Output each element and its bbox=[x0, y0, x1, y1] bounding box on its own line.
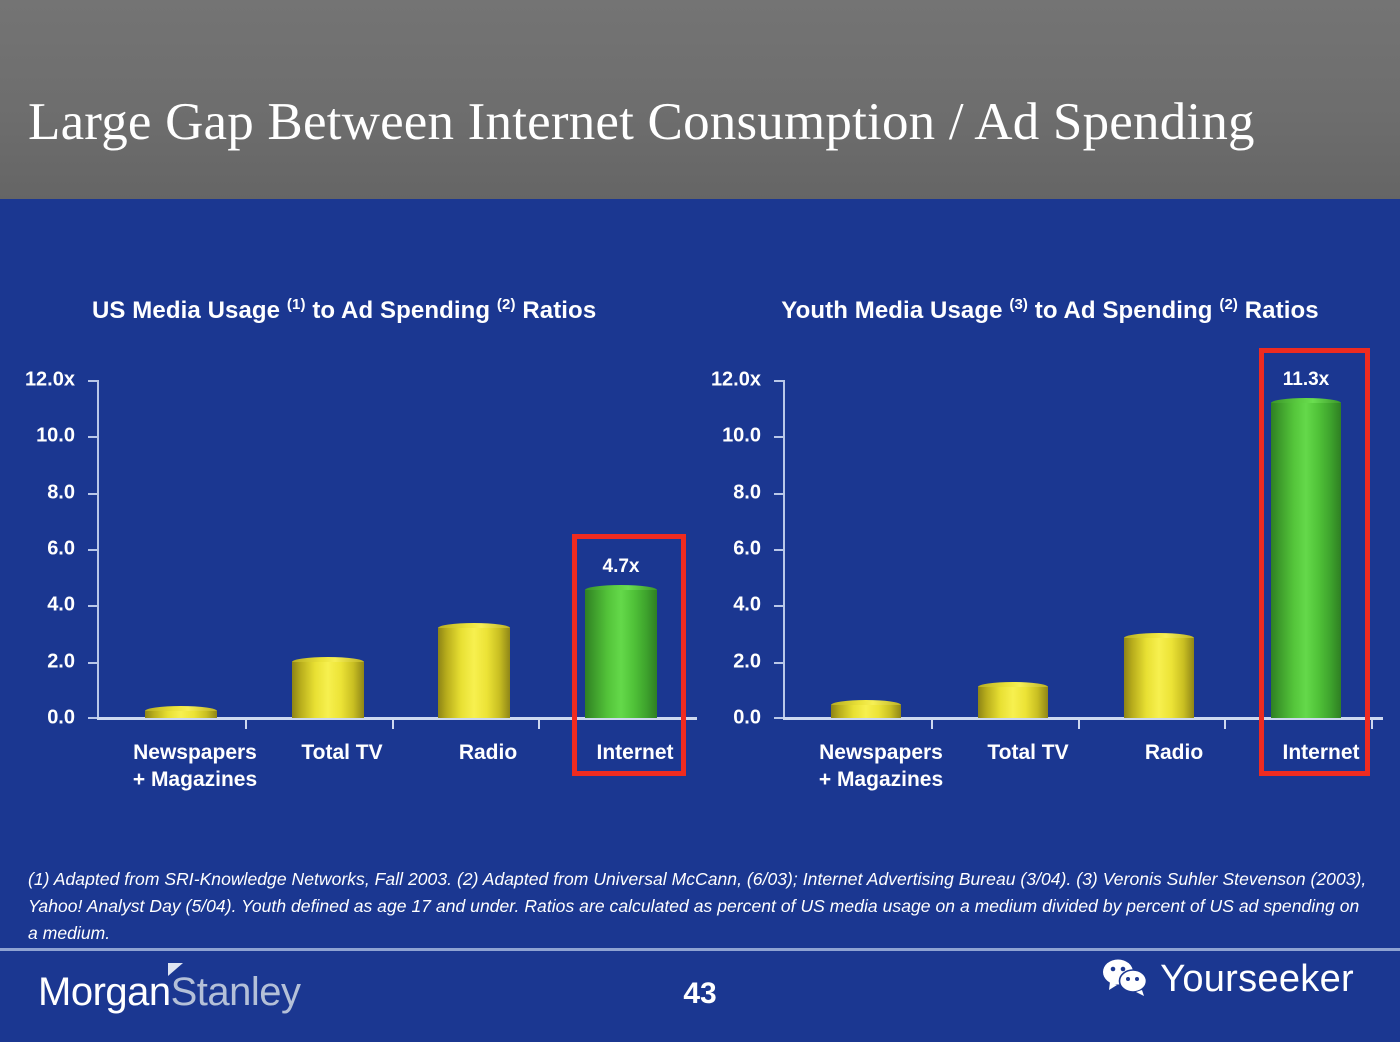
y-tick-label: 2.0 bbox=[733, 650, 761, 673]
y-axis-tick bbox=[774, 717, 783, 719]
y-tick-label: 12.0x bbox=[711, 369, 761, 392]
x-axis-tick bbox=[1078, 719, 1080, 729]
page-title: Large Gap Between Internet Consumption /… bbox=[28, 92, 1378, 152]
chart-title-text-a: US Media Usage bbox=[92, 297, 287, 324]
y-tick-label: 2.0 bbox=[47, 650, 75, 673]
x-axis-tick bbox=[538, 719, 540, 729]
y-axis-tick bbox=[88, 436, 97, 438]
bar-body bbox=[145, 711, 217, 718]
y-axis-labels-youth-media: 12.0x 10.0 8.0 6.0 4.0 2.0 0.0 bbox=[686, 380, 781, 718]
y-axis-line bbox=[97, 380, 99, 718]
x-axis-tick bbox=[245, 719, 247, 729]
category-label-radio: Radio bbox=[1104, 739, 1244, 766]
y-tick-label: 10.0 bbox=[36, 425, 75, 448]
y-axis-tick bbox=[774, 605, 783, 607]
bar-newspapers-magazines bbox=[831, 700, 901, 718]
bar-body bbox=[831, 705, 901, 718]
footnote-text: (1) Adapted from SRI-Knowledge Networks,… bbox=[28, 866, 1373, 947]
watermark-text: Yourseeker bbox=[1160, 958, 1354, 1001]
wechat-icon bbox=[1102, 958, 1148, 1001]
y-tick-label: 8.0 bbox=[733, 481, 761, 504]
highlight-box-internet bbox=[1259, 348, 1370, 776]
chart-title-text-a: Youth Media Usage bbox=[781, 297, 1009, 324]
y-axis-tick bbox=[88, 549, 97, 551]
footnote-marker-1: (1) bbox=[287, 296, 306, 313]
chart-panel-us-media: US Media Usage (1) to Ad Spending (2) Ra… bbox=[0, 199, 716, 819]
y-axis-tick bbox=[88, 380, 97, 382]
footnote-marker-2: (2) bbox=[497, 296, 516, 313]
x-axis-tick bbox=[931, 719, 933, 729]
y-axis-tick bbox=[774, 380, 783, 382]
y-tick-label: 6.0 bbox=[733, 538, 761, 561]
chart-title-text-c: Ratios bbox=[1238, 297, 1319, 324]
y-tick-label: 0.0 bbox=[733, 707, 761, 730]
y-axis-tick bbox=[88, 717, 97, 719]
x-axis-tick bbox=[1371, 719, 1373, 729]
category-label-newspapers-magazines: Newspapers + Magazines bbox=[125, 739, 265, 793]
bar-radio bbox=[1124, 633, 1194, 718]
y-axis-tick bbox=[774, 549, 783, 551]
x-axis-tick bbox=[392, 719, 394, 729]
chart-title-us-media: US Media Usage (1) to Ad Spending (2) Ra… bbox=[40, 287, 680, 328]
category-label-radio: Radio bbox=[418, 739, 558, 766]
chart-title-youth-media: Youth Media Usage (3) to Ad Spending (2)… bbox=[730, 287, 1370, 328]
y-tick-label: 4.0 bbox=[47, 594, 75, 617]
category-label-total-tv: Total TV bbox=[272, 739, 412, 766]
bar-radio bbox=[438, 623, 510, 718]
footnote-marker-2: (2) bbox=[1219, 296, 1238, 313]
x-axis-tick bbox=[1224, 719, 1226, 729]
chart-title-text-b: to Ad Spending bbox=[1028, 297, 1219, 324]
y-axis-tick bbox=[774, 662, 783, 664]
y-axis-tick bbox=[88, 662, 97, 664]
y-tick-label: 0.0 bbox=[47, 707, 75, 730]
bar-body bbox=[438, 628, 510, 718]
y-tick-label: 4.0 bbox=[733, 594, 761, 617]
bar-total-tv bbox=[292, 657, 364, 718]
footer-divider bbox=[0, 948, 1400, 951]
y-tick-label: 10.0 bbox=[722, 425, 761, 448]
y-axis-line bbox=[783, 380, 785, 718]
y-axis-tick bbox=[774, 493, 783, 495]
category-label-total-tv: Total TV bbox=[958, 739, 1098, 766]
y-axis-labels-us-media: 12.0x 10.0 8.0 6.0 4.0 2.0 0.0 bbox=[0, 380, 95, 718]
y-axis-tick bbox=[88, 605, 97, 607]
chart-title-text-c: Ratios bbox=[516, 297, 597, 324]
chart-title-text-b: to Ad Spending bbox=[306, 297, 497, 324]
chart-panel-youth-media: Youth Media Usage (3) to Ad Spending (2)… bbox=[700, 199, 1400, 819]
slide-root: Large Gap Between Internet Consumption /… bbox=[0, 0, 1400, 1042]
morgan-stanley-triangle-icon bbox=[168, 963, 183, 976]
bar-newspapers-magazines bbox=[145, 706, 217, 718]
y-axis-tick bbox=[774, 436, 783, 438]
bar-body bbox=[1124, 638, 1194, 718]
y-tick-label: 12.0x bbox=[25, 369, 75, 392]
category-label-newspapers-magazines: Newspapers + Magazines bbox=[811, 739, 951, 793]
bar-body bbox=[292, 662, 364, 718]
footnote-marker-3: (3) bbox=[1009, 296, 1028, 313]
watermark: Yourseeker bbox=[1102, 958, 1354, 1001]
bar-total-tv bbox=[978, 682, 1048, 718]
highlight-box-internet bbox=[572, 534, 686, 776]
bar-body bbox=[978, 687, 1048, 718]
y-axis-tick bbox=[88, 493, 97, 495]
y-tick-label: 8.0 bbox=[47, 481, 75, 504]
y-tick-label: 6.0 bbox=[47, 538, 75, 561]
